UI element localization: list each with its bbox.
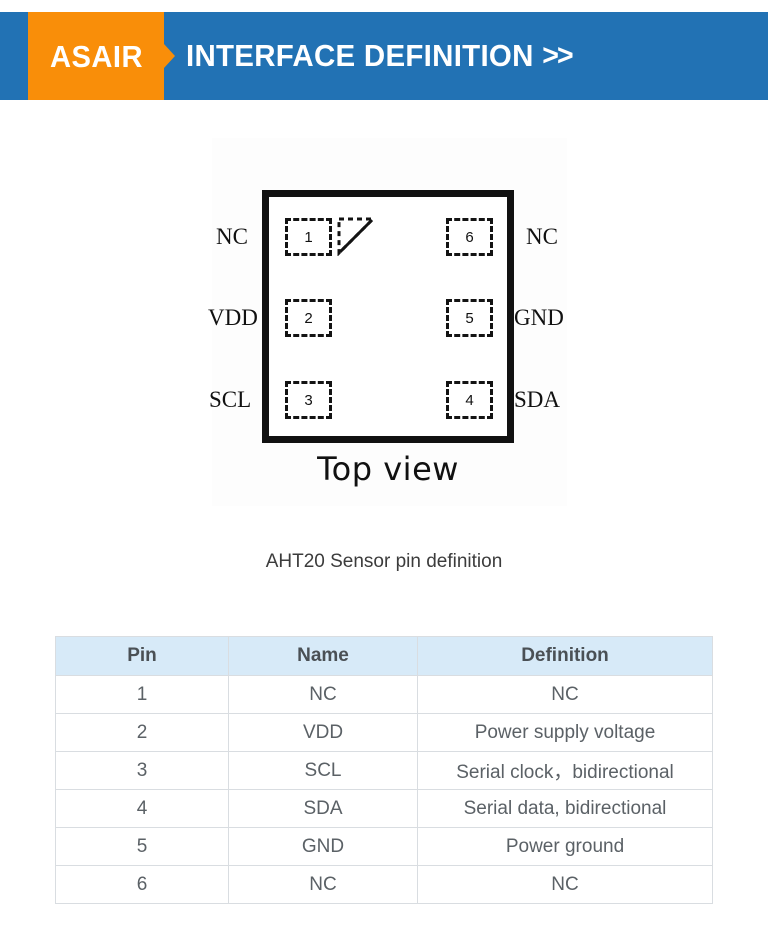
pin-one-triangle-marker-icon xyxy=(336,216,376,256)
pad-1: 1 xyxy=(285,218,332,256)
table-row: 6 NC NC xyxy=(56,866,713,904)
cell-pin: 3 xyxy=(56,752,229,790)
pad-2: 2 xyxy=(285,299,332,337)
cell-pin: 2 xyxy=(56,714,229,752)
pad-1-number: 1 xyxy=(304,229,312,246)
pad-3-number: 3 xyxy=(304,392,312,409)
table-head: Pin Name Definition xyxy=(56,637,713,676)
pad-4-number: 4 xyxy=(465,392,473,409)
pin-label-right-5: GND xyxy=(514,305,564,331)
cell-pin: 1 xyxy=(56,676,229,714)
cell-name: VDD xyxy=(229,714,418,752)
diagram-caption: AHT20 Sensor pin definition xyxy=(0,551,768,573)
pin-label-right-6: NC xyxy=(526,224,558,250)
pin-label-left-2: VDD xyxy=(208,305,258,331)
table-body: 1 NC NC 2 VDD Power supply voltage 3 SCL… xyxy=(56,676,713,904)
page-header-banner: ASAIR INTERFACE DEFINITION >> xyxy=(0,12,768,100)
pin-label-right-4: SDA xyxy=(514,387,560,413)
pad-5-number: 5 xyxy=(465,310,473,327)
cell-pin: 4 xyxy=(56,790,229,828)
cell-name: NC xyxy=(229,866,418,904)
cell-definition: Serial clock，bidirectional xyxy=(418,752,713,790)
pad-4: 4 xyxy=(446,381,493,419)
cell-definition: Power supply voltage xyxy=(418,714,713,752)
table-row: 2 VDD Power supply voltage xyxy=(56,714,713,752)
table-row: 4 SDA Serial data, bidirectional xyxy=(56,790,713,828)
table-header-row: Pin Name Definition xyxy=(56,637,713,676)
banner-title-group: INTERFACE DEFINITION >> xyxy=(186,12,572,100)
pin-label-left-3: SCL xyxy=(209,387,251,413)
double-chevron-right-icon: >> xyxy=(542,39,571,73)
cell-pin: 5 xyxy=(56,828,229,866)
table-row: 1 NC NC xyxy=(56,676,713,714)
brand-name: ASAIR xyxy=(49,41,142,72)
cell-definition: Power ground xyxy=(418,828,713,866)
pad-6: 6 xyxy=(446,218,493,256)
cell-definition: NC xyxy=(418,866,713,904)
cell-definition: Serial data, bidirectional xyxy=(418,790,713,828)
column-header-name: Name xyxy=(229,637,418,676)
top-view-label: Top view xyxy=(262,450,514,488)
column-header-definition: Definition xyxy=(418,637,713,676)
cell-name: GND xyxy=(229,828,418,866)
cell-definition: NC xyxy=(418,676,713,714)
pin-definition-table: Pin Name Definition 1 NC NC 2 VDD Power … xyxy=(55,636,713,904)
cell-name: SCL xyxy=(229,752,418,790)
pad-2-number: 2 xyxy=(304,310,312,327)
cell-pin: 6 xyxy=(56,866,229,904)
column-header-pin: Pin xyxy=(56,637,229,676)
pad-3: 3 xyxy=(285,381,332,419)
pad-6-number: 6 xyxy=(465,229,473,246)
pad-5: 5 xyxy=(446,299,493,337)
pin-label-left-1: NC xyxy=(216,224,248,250)
cell-name: NC xyxy=(229,676,418,714)
brand-arrow-icon xyxy=(164,44,175,68)
banner-title-text: INTERFACE DEFINITION xyxy=(186,38,534,74)
cell-name: SDA xyxy=(229,790,418,828)
table-row: 3 SCL Serial clock，bidirectional xyxy=(56,752,713,790)
brand-block: ASAIR xyxy=(28,12,164,100)
table-row: 5 GND Power ground xyxy=(56,828,713,866)
